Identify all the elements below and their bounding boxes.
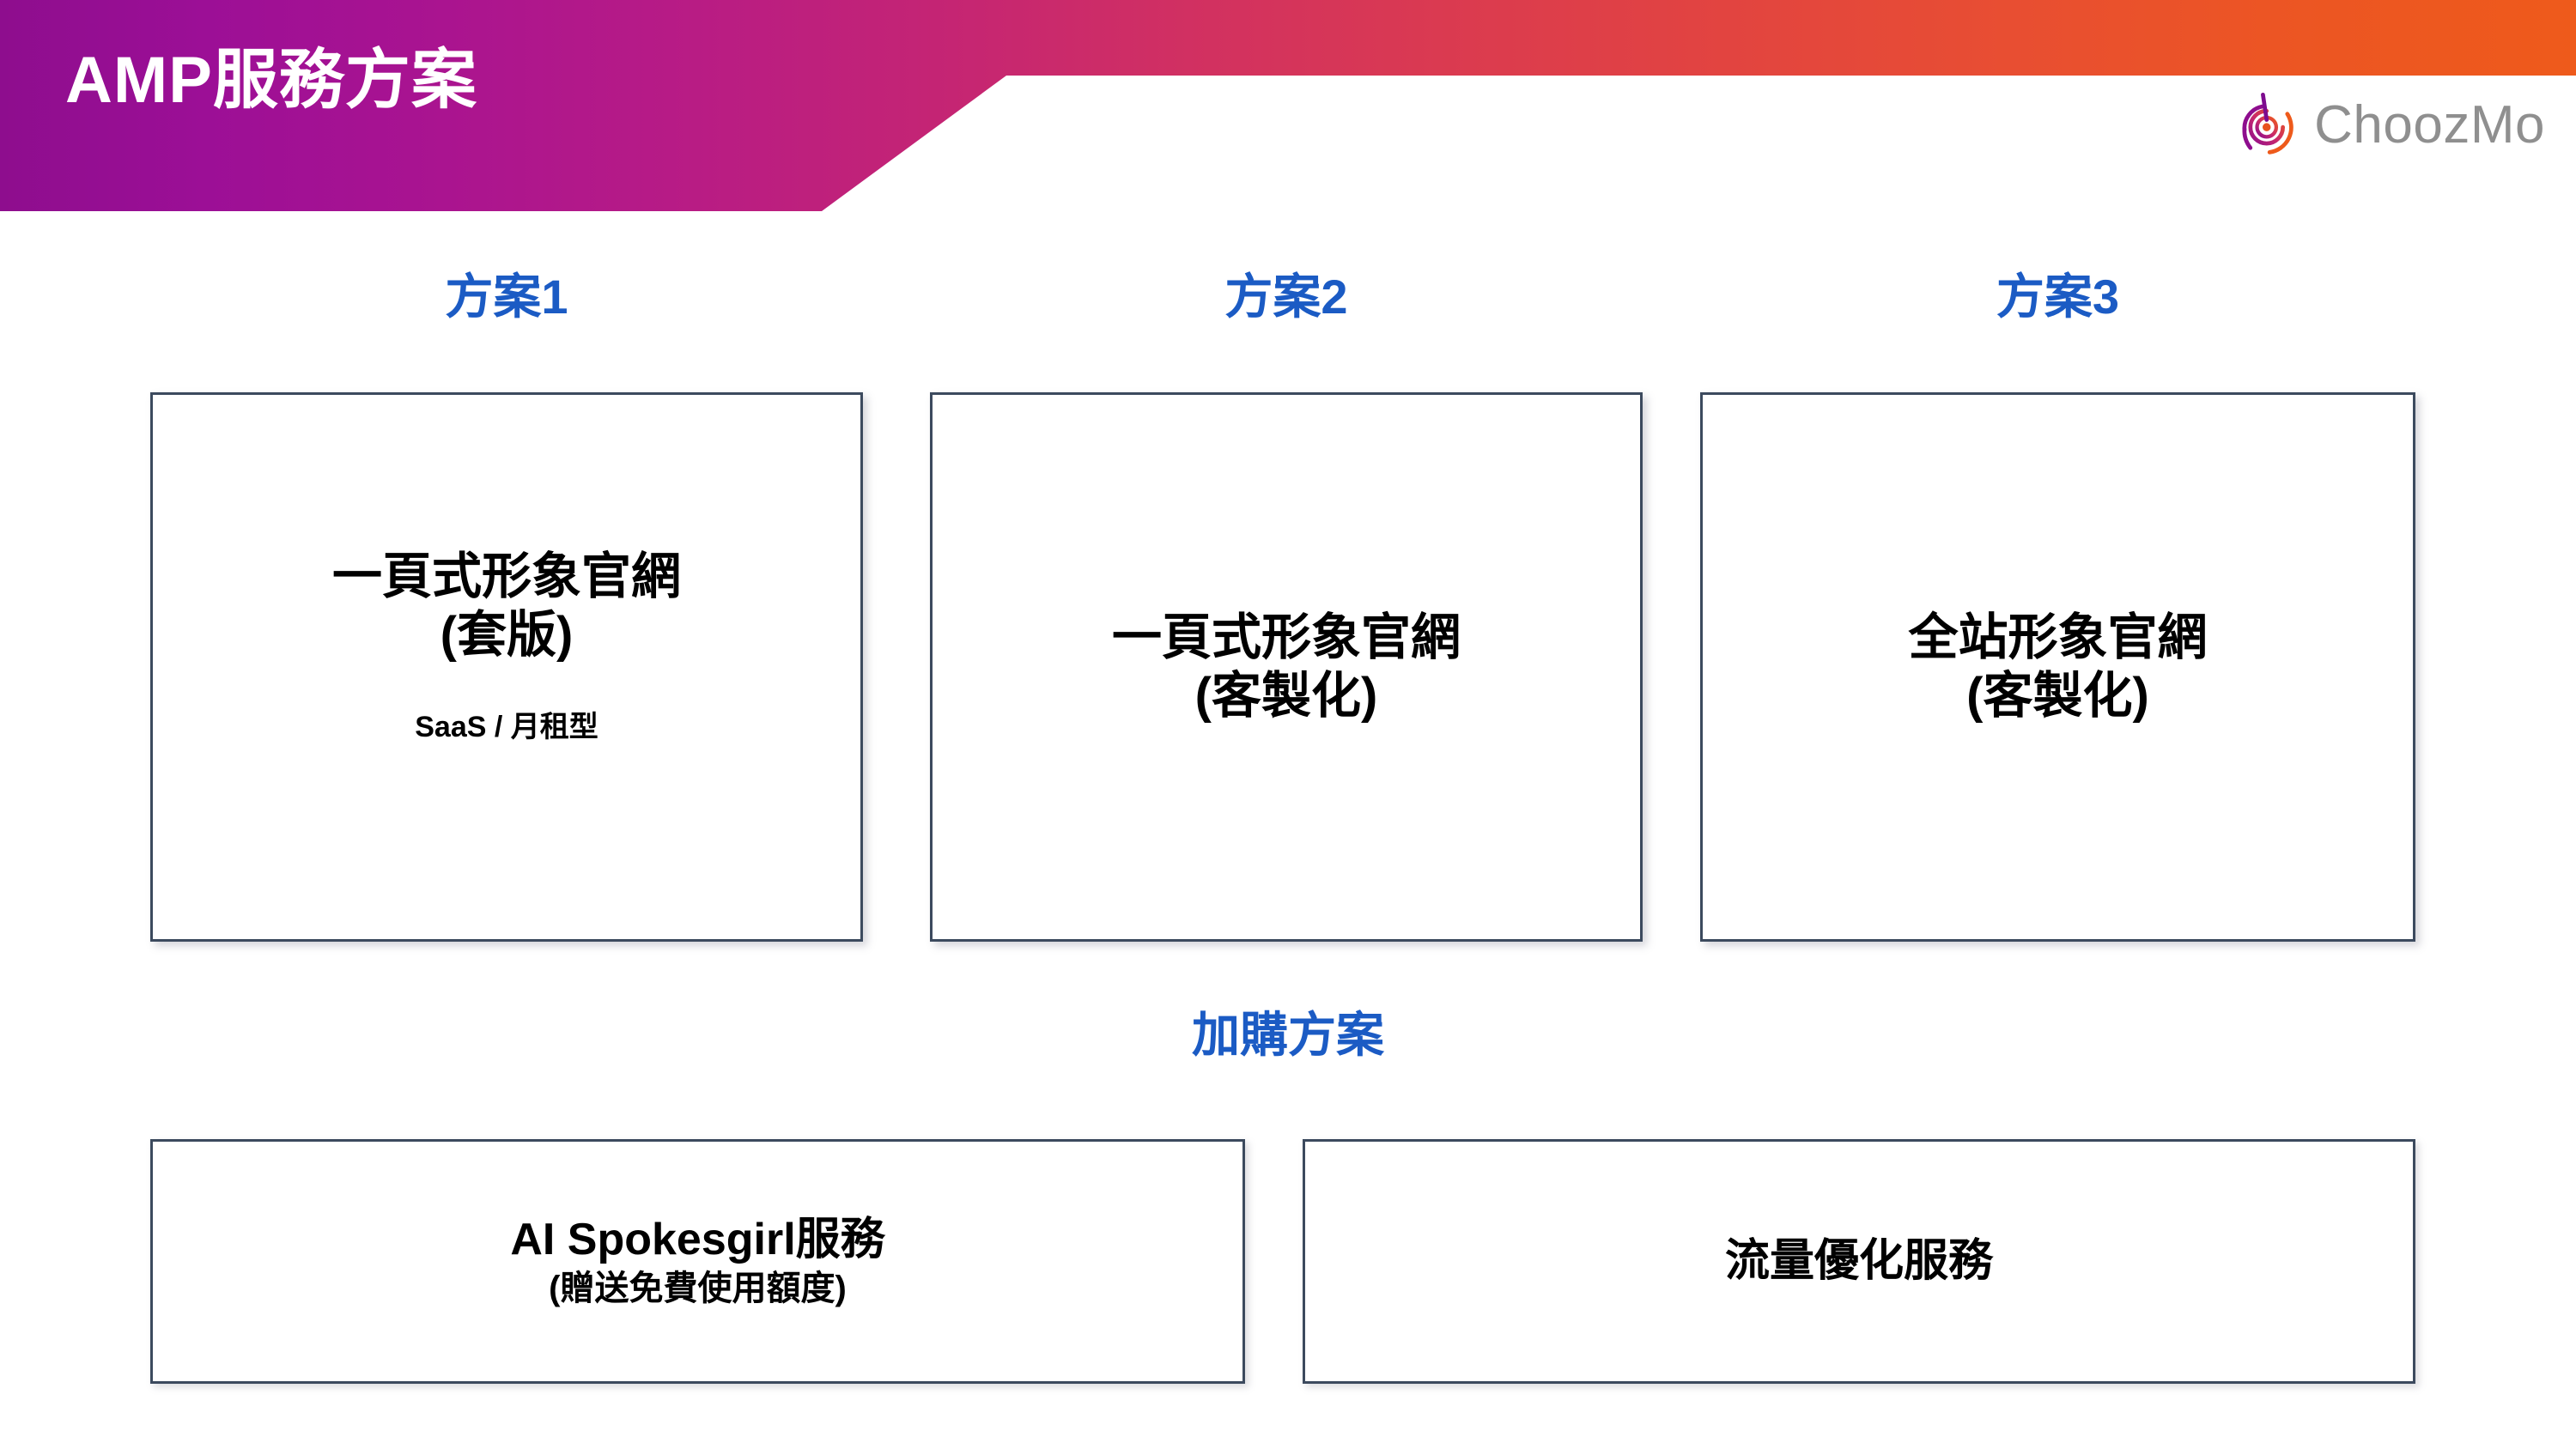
plan-card-1[interactable]: 一頁式形象官網 (套版) SaaS / 月租型	[150, 392, 863, 942]
plan-label-1: 方案1	[150, 273, 863, 321]
plan-card-2[interactable]: 一頁式形象官網 (客製化)	[930, 392, 1643, 942]
addon-box-1-subtitle: (贈送免費使用額度)	[549, 1269, 847, 1308]
addon-box-2-title: 流量優化服務	[1725, 1236, 1993, 1286]
plan-label-3: 方案3	[1700, 273, 2415, 321]
choozmo-logo: ChoozMo	[2228, 86, 2545, 164]
addon-box-1-title: AI Spokesgirl服務	[510, 1215, 884, 1264]
plan-card-1-subtitle: SaaS / 月租型	[415, 710, 598, 745]
plan-card-3[interactable]: 全站形象官網 (客製化)	[1700, 392, 2415, 942]
plan-card-3-title: 全站形象官網 (客製化)	[1908, 609, 2207, 726]
spiral-target-icon	[2228, 86, 2302, 164]
banner-gradient-shape	[0, 0, 2576, 215]
choozmo-logo-text: ChoozMo	[2314, 99, 2545, 152]
addons-heading: 加購方案	[0, 1011, 2576, 1059]
plan-card-2-title: 一頁式形象官網 (客製化)	[1112, 609, 1461, 726]
addon-box-2[interactable]: 流量優化服務	[1303, 1139, 2415, 1384]
plan-label-2: 方案2	[930, 273, 1643, 321]
plan-card-1-title: 一頁式形象官網 (套版)	[332, 548, 681, 665]
header-banner: AMP服務方案	[0, 0, 2576, 215]
page-title: AMP服務方案	[65, 45, 477, 117]
addon-box-1[interactable]: AI Spokesgirl服務 (贈送免費使用額度)	[150, 1139, 1245, 1384]
